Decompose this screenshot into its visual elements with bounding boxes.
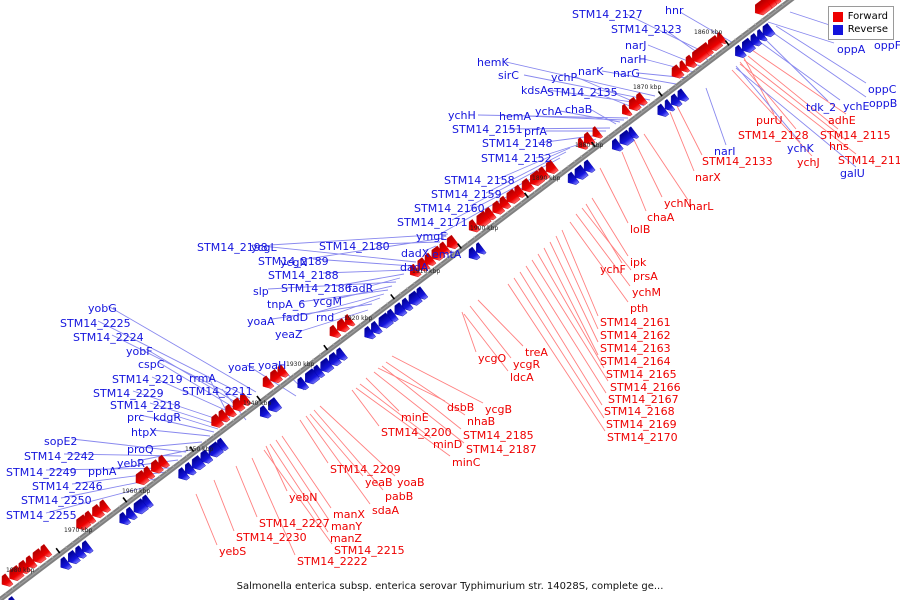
gene-label[interactable]: ychA — [535, 106, 562, 117]
gene-label[interactable]: prc — [127, 412, 144, 423]
scale-tick-label: 1970 kbp — [64, 528, 92, 534]
gene-label[interactable]: STM14_2171 — [397, 217, 468, 228]
gene-label[interactable]: hnr — [665, 5, 683, 16]
scale-tick-label: 1940 kbp — [243, 401, 271, 407]
gene-label[interactable]: STM14_2128 — [738, 130, 809, 141]
gene-label[interactable]: chaB — [565, 104, 592, 115]
gene-label[interactable]: STM14_2168 — [604, 406, 675, 417]
gene-label[interactable]: rrmA — [189, 373, 216, 384]
gene-label[interactable]: STM14_2169 — [606, 419, 677, 430]
gene-label[interactable]: STM14_2211 — [182, 386, 253, 397]
gene-label[interactable]: ymgE — [416, 231, 447, 242]
gene-label[interactable]: STM14_2189 — [258, 256, 329, 267]
genome-map-viewport[interactable]: STM14_2127hnrSTM14_2123narJnarHnarGnarKh… — [0, 0, 900, 600]
legend-reverse-label: Reverse — [848, 25, 888, 35]
gene-label[interactable]: ycgM — [313, 296, 342, 307]
reverse-swatch-icon — [833, 25, 843, 35]
gene-label[interactable]: minE — [401, 412, 429, 423]
gene-label[interactable]: ldcA — [510, 372, 534, 383]
gene-label[interactable]: STM14_2166 — [610, 382, 681, 393]
gene-label[interactable]: STM14_2161 — [600, 317, 671, 328]
legend-forward-label: Forward — [848, 12, 888, 22]
gene-label[interactable]: yobG — [88, 303, 117, 314]
scale-tick-label: 1870 kbp — [633, 85, 661, 91]
gene-label[interactable]: sirC — [498, 70, 519, 81]
gene-label[interactable]: slp — [253, 286, 269, 297]
gene-label[interactable]: ychH — [448, 110, 476, 121]
gene-label[interactable]: fadR — [348, 283, 373, 294]
gene-label[interactable]: galU — [840, 168, 865, 179]
gene-label[interactable]: STM14_2167 — [608, 394, 679, 405]
gene-label[interactable]: STM14_2242 — [24, 451, 95, 462]
gene-label[interactable]: STM14_2219 — [112, 374, 183, 385]
scale-tick-label: 1980 kbp — [6, 568, 34, 574]
gene-label[interactable]: emtA — [432, 249, 461, 260]
gene-label[interactable]: STM14_2159 — [431, 189, 502, 200]
gene-label[interactable]: hemK — [477, 57, 509, 68]
gene-label[interactable]: STM14_2246 — [32, 481, 103, 492]
gene-label[interactable]: ycgB — [485, 404, 512, 415]
scale-tick-label: 1880 kbp — [575, 143, 603, 149]
gene-label[interactable]: STM14_2151 — [452, 124, 523, 135]
gene-label[interactable]: STM14_2209 — [330, 464, 401, 475]
gene-label[interactable]: rnd — [316, 312, 334, 323]
gene-label[interactable]: minD — [433, 439, 462, 450]
gene-label[interactable]: STM14_2229 — [93, 388, 164, 399]
gene-label[interactable]: STM14_2187 — [466, 444, 537, 455]
gene-label[interactable]: STM14_2188 — [268, 270, 339, 281]
scale-tick-label: 1860 kbp — [694, 30, 722, 36]
gene-label[interactable]: dsbB — [447, 402, 474, 413]
scale-tick-label: 1930 kbp — [286, 362, 314, 368]
gene-label[interactable]: STM14_2164 — [600, 356, 671, 367]
gene-label[interactable]: yeaB — [365, 477, 393, 488]
gene-label[interactable]: STM14_2230 — [236, 532, 307, 543]
gene-label[interactable]: sopE2 — [44, 436, 77, 447]
gene-label[interactable]: STM14_2218 — [110, 400, 181, 411]
gene-label[interactable]: manX — [333, 509, 365, 520]
gene-label[interactable]: yeaZ — [275, 329, 303, 340]
gene-label[interactable]: narG — [613, 68, 640, 79]
scale-tick-label: 1890 kbp — [532, 176, 560, 182]
gene-label[interactable]: STM14_2135 — [547, 87, 618, 98]
gene-label[interactable]: STM14_2227 — [259, 518, 330, 529]
gene-label[interactable]: ychK — [787, 143, 814, 154]
scale-tick-label: 1960 kbp — [122, 489, 150, 495]
gene-label[interactable]: STM14_2133 — [702, 156, 773, 167]
gene-label[interactable]: ychP — [551, 72, 577, 83]
gene-label[interactable]: STM14_2152 — [481, 153, 552, 164]
gene-label[interactable]: ycgO — [478, 353, 506, 364]
gene-label[interactable]: STM14_2255 — [6, 510, 77, 521]
gene-label[interactable]: STM14_2158 — [444, 175, 515, 186]
gene-label[interactable]: pabB — [385, 491, 413, 502]
gene-label[interactable]: narK — [578, 66, 603, 77]
gene-label[interactable]: proQ — [127, 444, 154, 455]
gene-label[interactable]: pphA — [88, 466, 116, 477]
gene-label[interactable]: fadD — [282, 312, 308, 323]
gene-label[interactable]: STM14_2148 — [482, 138, 553, 149]
gene-label[interactable]: oppC — [868, 84, 896, 95]
gene-label[interactable]: narX — [695, 172, 721, 183]
scale-tick-label: 1950 kbp — [185, 447, 213, 453]
gene-label[interactable]: ychE — [843, 101, 869, 112]
gene-label[interactable]: htpX — [131, 427, 157, 438]
gene-label[interactable]: STM14_2180 — [319, 241, 390, 252]
gene-label[interactable]: STM14_2185 — [463, 430, 534, 441]
gene-label[interactable]: STM14_2123 — [611, 24, 682, 35]
gene-label[interactable]: ychJ — [797, 157, 820, 168]
gene-label[interactable]: narJ — [625, 40, 646, 51]
gene-label[interactable]: kdgR — [153, 412, 181, 423]
gene-label[interactable]: narH — [620, 54, 647, 65]
genome-map-canvas — [0, 0, 900, 600]
gene-label[interactable]: dadX — [401, 248, 429, 259]
gene-label[interactable]: ipk — [630, 257, 646, 268]
gene-label[interactable]: narL — [689, 201, 713, 212]
scale-tick-label: 1920 kbp — [344, 316, 372, 322]
gene-label[interactable]: ychM — [632, 287, 661, 298]
gene-label[interactable]: prfA — [524, 126, 547, 137]
scale-tick-label: 1910 kbp — [412, 269, 440, 275]
gene-label[interactable]: STM14_2117 — [838, 155, 900, 166]
gene-label[interactable]: minC — [452, 457, 480, 468]
gene-label[interactable]: STM14_2200 — [381, 427, 452, 438]
gene-label[interactable]: prsA — [633, 271, 658, 282]
gene-label[interactable]: adhE — [828, 115, 856, 126]
gene-label[interactable]: pth — [630, 303, 648, 314]
gene-label[interactable]: purU — [756, 115, 783, 126]
gene-label[interactable]: STM14_2250 — [21, 495, 92, 506]
gene-label[interactable]: yoaB — [397, 477, 425, 488]
gene-label[interactable]: sdaA — [372, 505, 399, 516]
gene-label[interactable]: STM14_2160 — [414, 203, 485, 214]
scale-tick-label: 1900 kbp — [470, 226, 498, 232]
sequence-caption: Salmonella enterica subsp. enterica sero… — [0, 581, 900, 592]
legend-row-forward: Forward — [833, 10, 888, 23]
gene-label[interactable]: yobF — [126, 346, 153, 357]
forward-swatch-icon — [833, 12, 843, 22]
gene-label[interactable]: yebR — [117, 458, 145, 469]
gene-label[interactable]: tnpA_6 — [267, 299, 305, 310]
gene-label[interactable]: treA — [525, 347, 548, 358]
legend-row-reverse: Reverse — [833, 23, 888, 36]
gene-label[interactable]: yoaH — [258, 360, 286, 371]
gene-label[interactable]: chaA — [647, 212, 674, 223]
gene-label[interactable]: yoaA — [247, 316, 275, 327]
gene-label[interactable]: oppA — [837, 44, 865, 55]
gene-label[interactable]: ychN — [664, 198, 692, 209]
gene-label[interactable]: manY — [331, 521, 362, 532]
gene-label[interactable]: STM14_2163 — [600, 343, 671, 354]
gene-label[interactable]: hns — [829, 141, 849, 152]
gene-label[interactable]: yebN — [289, 492, 318, 503]
gene-label[interactable]: yoaE — [228, 362, 255, 373]
gene-label[interactable]: ycgR — [513, 359, 540, 370]
gene-label[interactable]: kdsA — [521, 85, 548, 96]
gene-label[interactable]: STM14_2162 — [600, 330, 671, 341]
gene-label[interactable]: nhaB — [467, 416, 495, 427]
gene-label[interactable]: yebS — [219, 546, 246, 557]
gene-label[interactable]: STM14_2165 — [606, 369, 677, 380]
gene-label[interactable]: STM14_2249 — [6, 467, 77, 478]
gene-label[interactable]: STM14_2186 — [281, 283, 352, 294]
strand-legend: Forward Reverse — [828, 6, 894, 40]
gene-label[interactable]: oppF — [874, 40, 900, 51]
gene-label[interactable]: STM14_2127 — [572, 9, 643, 20]
gene-label[interactable]: STM14_2222 — [297, 556, 368, 567]
gene-label[interactable]: STM14_2198 — [197, 242, 268, 253]
gene-label[interactable]: STM14_2224 — [73, 332, 144, 343]
gene-label[interactable]: ychF — [600, 264, 626, 275]
gene-label[interactable]: lolB — [630, 224, 650, 235]
gene-label[interactable]: manZ — [330, 533, 362, 544]
gene-label[interactable]: tdk_2 — [806, 102, 836, 113]
gene-label[interactable]: oppB — [869, 98, 897, 109]
gene-label[interactable]: STM14_2225 — [60, 318, 131, 329]
gene-label[interactable]: cspC — [138, 359, 164, 370]
gene-label[interactable]: hemA — [499, 111, 531, 122]
gene-label[interactable]: STM14_2170 — [607, 432, 678, 443]
